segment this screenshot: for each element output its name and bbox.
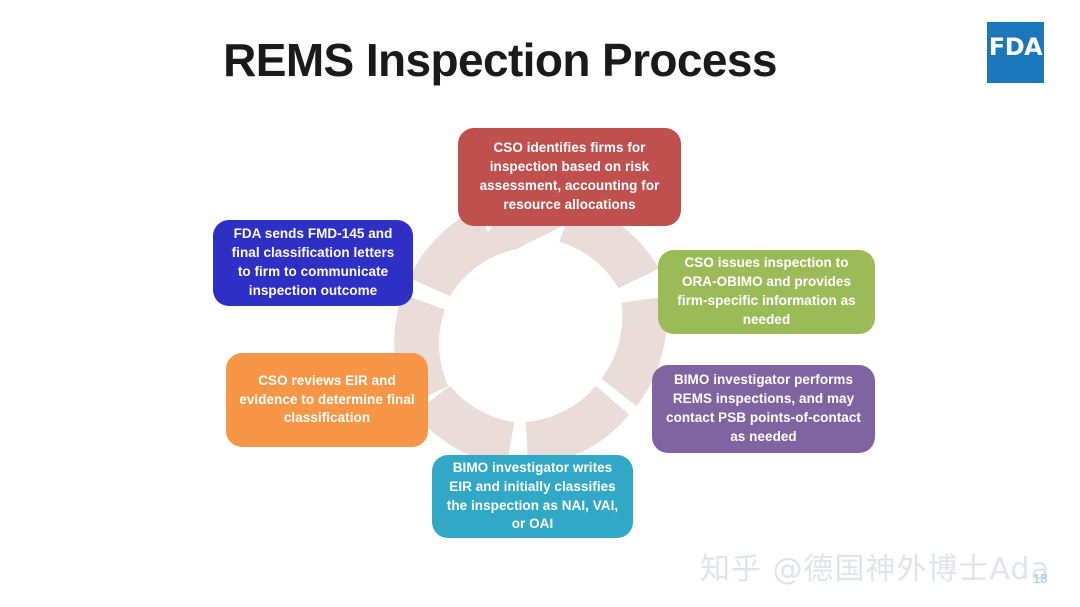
watermark-text: 知乎 @德国神外博士Ada (700, 544, 1050, 588)
process-step-1-label: CSO identifies firms for inspection base… (470, 139, 669, 215)
process-step-5-box[interactable]: CSO reviews EIR and evidence to determin… (226, 353, 428, 447)
process-step-4-label: BIMO investigator writes EIR and initial… (444, 459, 621, 535)
slide-canvas: REMS Inspection Process FDA CSO identifi… (0, 0, 1080, 607)
page-number: 18 (1033, 571, 1047, 586)
process-step-6-label: FDA sends FMD-145 and final classificati… (225, 225, 401, 301)
fda-logo: FDA (987, 22, 1044, 83)
process-step-2-label: CSO issues inspection to ORA-OBIMO and p… (670, 254, 863, 330)
fda-logo-text: FDA (987, 33, 1044, 61)
process-step-2-box[interactable]: CSO issues inspection to ORA-OBIMO and p… (658, 250, 875, 334)
process-step-3-label: BIMO investigator performs REMS inspecti… (664, 371, 863, 447)
page-title: REMS Inspection Process (120, 34, 880, 87)
process-step-4-box[interactable]: BIMO investigator writes EIR and initial… (432, 455, 633, 538)
process-step-1-box[interactable]: CSO identifies firms for inspection base… (458, 128, 681, 226)
process-step-3-box[interactable]: BIMO investigator performs REMS inspecti… (652, 365, 875, 453)
process-step-5-label: CSO reviews EIR and evidence to determin… (238, 372, 416, 429)
process-step-6-box[interactable]: FDA sends FMD-145 and final classificati… (213, 220, 413, 306)
